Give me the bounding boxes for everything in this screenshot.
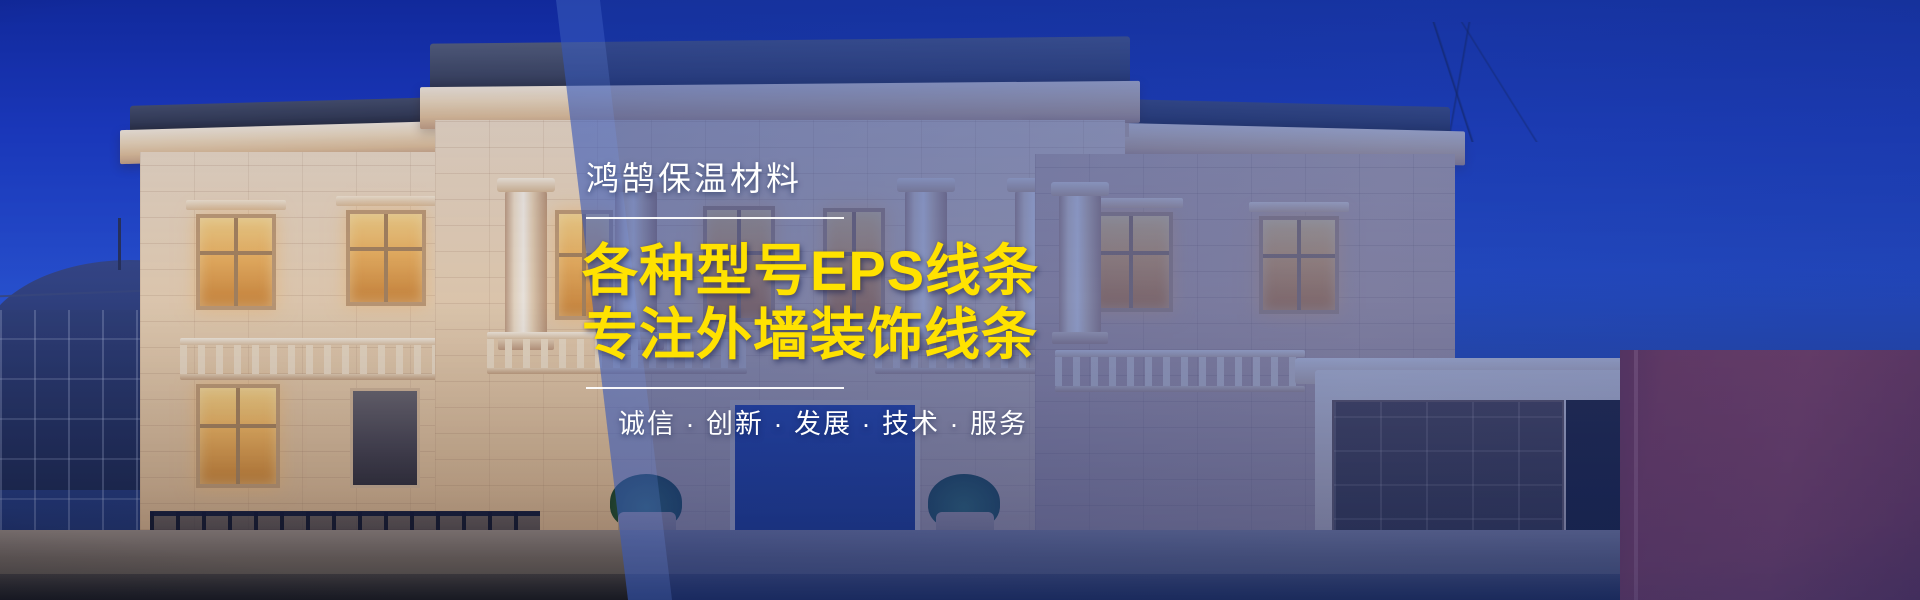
brand-name: 鸿鹄保温材料 [586,162,1076,195]
divider-top [586,217,844,219]
headline-line-1: 各种型号EPS线条 [582,239,1076,303]
tagline: 诚信 · 创新 · 发展 · 技术 · 服务 [618,411,1076,438]
headline-line-2: 专注外墙装饰线条 [582,303,1076,367]
divider-bottom [586,387,844,389]
headline: 各种型号EPS线条 专注外墙装饰线条 [582,239,1076,367]
hero-banner: 鸿鹄保温材料 各种型号EPS线条 专注外墙装饰线条 诚信 · 创新 · 发展 ·… [0,0,1920,600]
banner-copy-block: 鸿鹄保温材料 各种型号EPS线条 专注外墙装饰线条 诚信 · 创新 · 发展 ·… [556,0,1076,600]
